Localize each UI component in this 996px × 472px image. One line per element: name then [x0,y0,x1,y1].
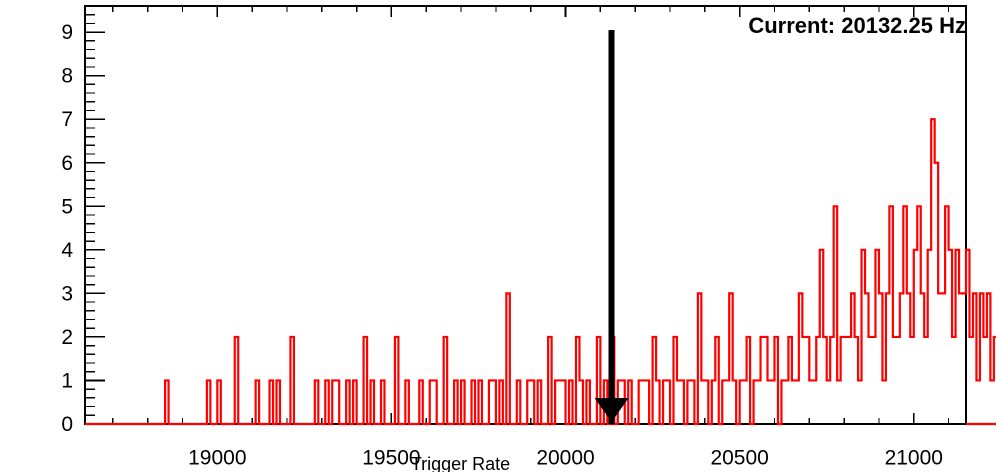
y-tick-label: 5 [61,195,73,218]
x-tick-label: 20500 [710,446,768,469]
histogram-outline [85,119,996,424]
histogram-series [85,119,996,424]
y-tick-label: 8 [61,65,73,88]
y-tick-label: 7 [61,108,73,131]
y-tick-label: 6 [61,152,73,175]
trigger-rate-histogram: 19000195002000020500210000123456789Trigg… [0,0,996,472]
y-tick-label: 0 [61,413,73,436]
histogram-canvas: 19000195002000020500210000123456789Trigg… [0,0,996,472]
y-tick-label: 3 [61,282,73,305]
x-tick-label: 20000 [536,446,594,469]
x-tick-label: 21000 [885,446,943,469]
current-rate-readout: Current: 20132.25 Hz [748,13,966,39]
y-tick-label: 1 [61,369,73,392]
axis-ticks [85,6,949,424]
x-tick-label: 19000 [188,446,246,469]
x-axis-title: Trigger Rate [411,454,510,472]
y-tick-label: 2 [61,326,73,349]
y-tick-label: 4 [61,239,73,262]
y-tick-label: 9 [61,21,73,44]
